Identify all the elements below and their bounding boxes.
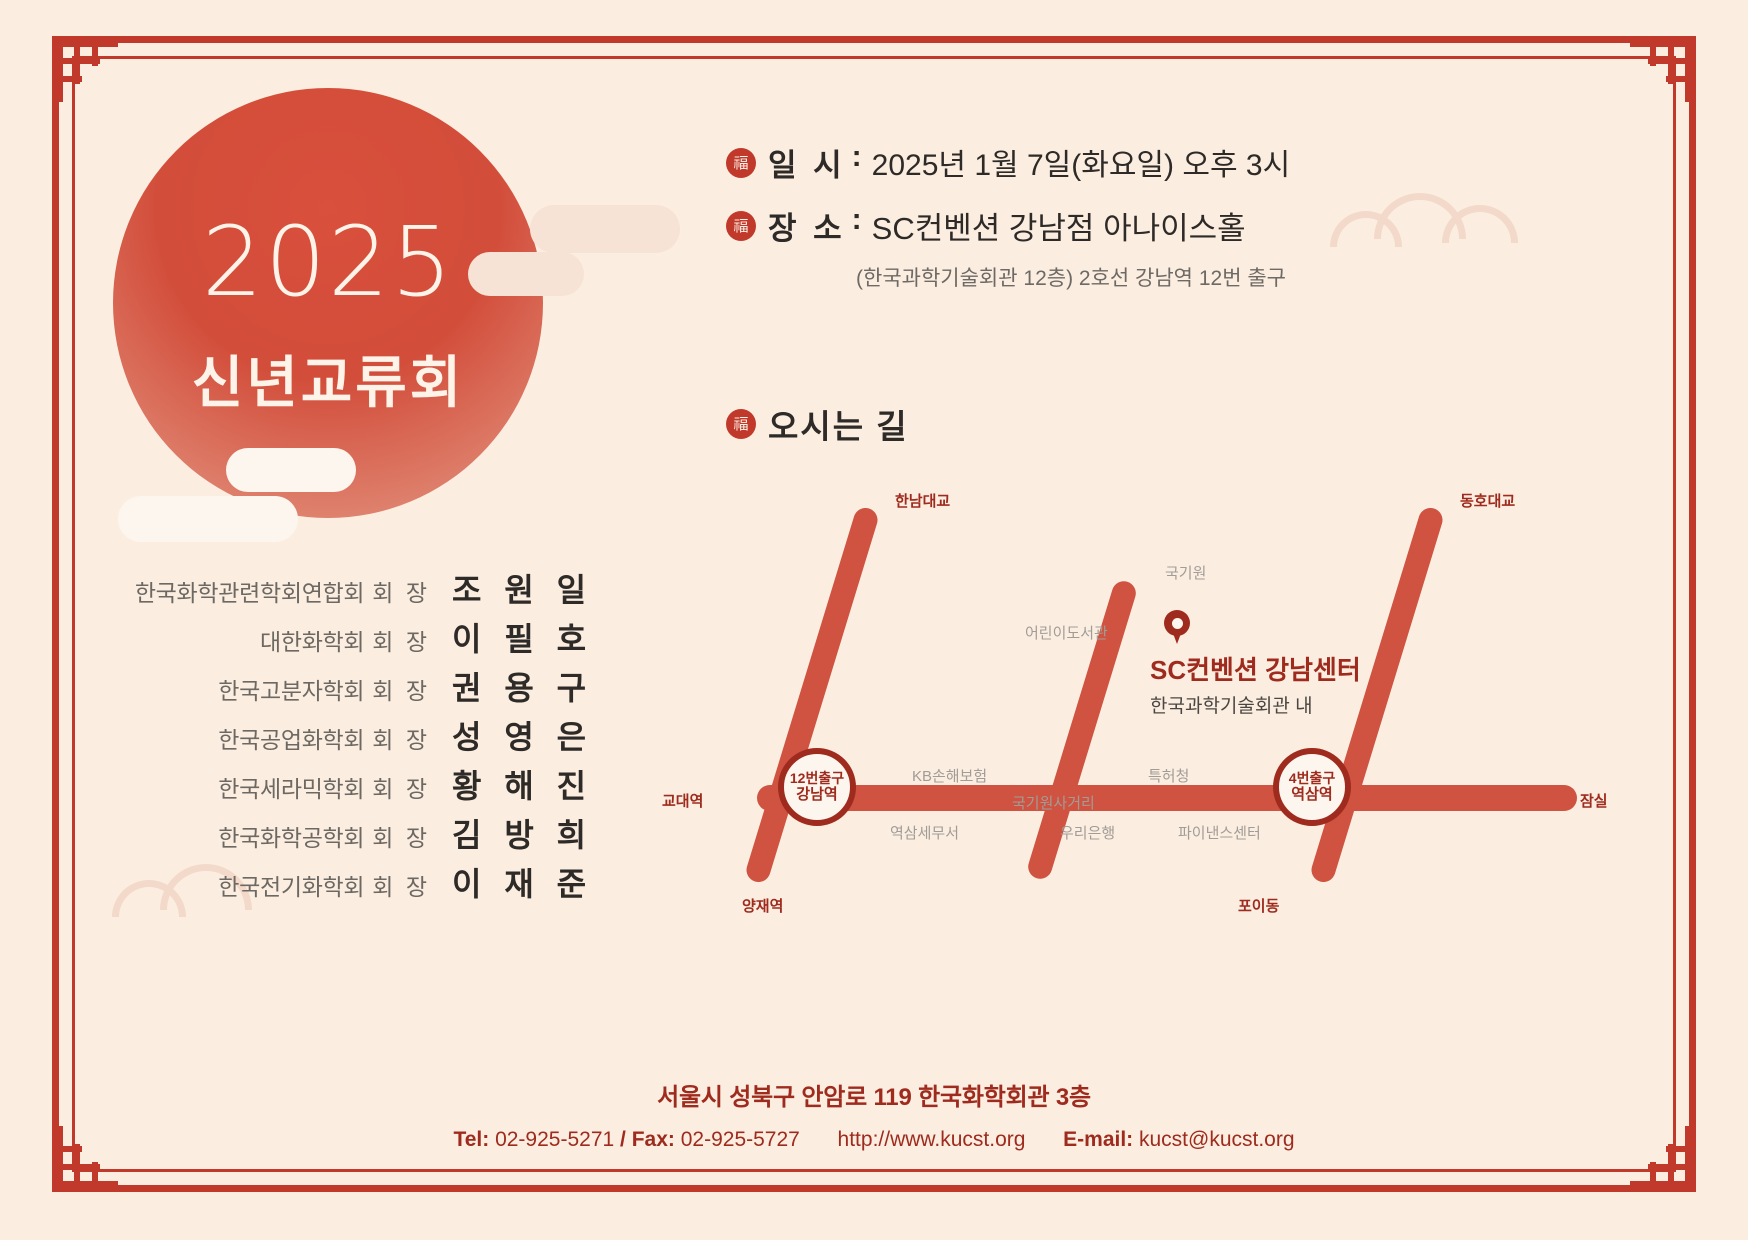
officer-row: 한국고분자학회 회 장 권 용 구 bbox=[110, 663, 580, 712]
map-label-yangjae-station: 양재역 bbox=[742, 895, 783, 916]
officer-title: 회 장 bbox=[372, 819, 430, 853]
email-value[interactable]: kucst@kucst.org bbox=[1139, 1128, 1295, 1151]
officer-org: 한국전기화학회 bbox=[218, 868, 364, 902]
officer-row: 한국화학관련학회연합회 회 장 조 원 일 bbox=[110, 565, 580, 614]
directions-label: 오시는 길 bbox=[768, 400, 909, 448]
date-colon: : bbox=[852, 140, 862, 174]
officers-list: 한국화학관련학회연합회 회 장 조 원 일 대한화학회 회 장 이 필 호 한국… bbox=[110, 565, 580, 908]
place-colon: : bbox=[852, 203, 862, 237]
event-title: 신년교류회 bbox=[113, 338, 543, 419]
map-poi-gukgiwon: 국기원 bbox=[1165, 562, 1206, 583]
bok-seal-icon: 福 bbox=[726, 211, 756, 241]
officer-name: 성 영 은 bbox=[452, 712, 580, 758]
road-main-horizontal bbox=[757, 785, 1577, 811]
map-pin-icon bbox=[1164, 610, 1190, 644]
officer-title: 회 장 bbox=[372, 770, 430, 804]
officer-row: 한국세라믹학회 회 장 황 해 진 bbox=[110, 761, 580, 810]
email-label: E-mail: bbox=[1063, 1128, 1133, 1151]
station-exit-label: 4번출구 bbox=[1289, 770, 1335, 786]
bok-seal-icon: 福 bbox=[726, 148, 756, 178]
footer-address: 서울시 성북구 안암로 119 한국화학회관 3층 bbox=[0, 1077, 1748, 1112]
venue-callout: SC컨벤션 강남센터 한국과학기술회관 내 bbox=[1150, 650, 1361, 718]
place-subtext: (한국과학기술회관 12층) 2호선 강남역 12번 출구 bbox=[856, 262, 1446, 292]
website-link[interactable]: http://www.kucst.org bbox=[838, 1128, 1026, 1151]
cloud-decoration bbox=[468, 252, 584, 296]
station-name-label: 강남역 bbox=[796, 786, 837, 803]
map-label-hannam-bridge: 한남대교 bbox=[895, 490, 950, 511]
road-diagonal-left bbox=[744, 505, 881, 885]
officer-row: 대한화학회 회 장 이 필 호 bbox=[110, 614, 580, 663]
map-poi-gukgiwon-intersection: 국기원사거리 bbox=[1012, 792, 1095, 813]
officer-org: 한국화학공학회 bbox=[218, 819, 364, 853]
officer-row: 한국전기화학회 회 장 이 재 준 bbox=[110, 859, 580, 908]
station-marker-yeoksam[interactable]: 4번출구 역삼역 bbox=[1273, 748, 1351, 826]
officer-name: 조 원 일 bbox=[452, 565, 580, 611]
date-value: 2025년 1월 7일(화요일) 오후 3시 bbox=[872, 140, 1291, 184]
location-map: 한남대교 동호대교 교대역 잠실 양재역 포이동 국기원 어린이도서관 KB손해… bbox=[640, 470, 1700, 940]
contact-slash: / bbox=[620, 1128, 626, 1151]
corner-ornament-top-left bbox=[56, 40, 118, 102]
place-value: SC컨벤션 강남점 아나이스홀 bbox=[872, 203, 1246, 248]
map-poi-kb-insurance: KB손해보험 bbox=[912, 765, 987, 786]
poster-root: 乙巳年 2025 신년교류회 福 일 시 : 2025년 1월 7일(화요일) … bbox=[0, 0, 1748, 1240]
venue-sub: 한국과학기술회관 내 bbox=[1150, 691, 1361, 718]
officer-name: 이 필 호 bbox=[452, 614, 580, 660]
map-label-poi-dong: 포이동 bbox=[1238, 895, 1279, 916]
station-marker-gangnam[interactable]: 12번출구 강남역 bbox=[778, 748, 856, 826]
map-poi-yeoksam-tax-office: 역삼세무서 bbox=[890, 822, 959, 843]
map-poi-childrens-library: 어린이도서관 bbox=[1025, 622, 1108, 643]
bok-seal-icon: 福 bbox=[726, 409, 756, 439]
officer-row: 한국공업화학회 회 장 성 영 은 bbox=[110, 712, 580, 761]
officer-title: 회 장 bbox=[372, 574, 430, 608]
station-name-label: 역삼역 bbox=[1291, 786, 1332, 803]
officer-title: 회 장 bbox=[372, 672, 430, 706]
directions-heading: 福 오시는 길 bbox=[726, 400, 909, 448]
officer-org: 대한화학회 bbox=[260, 623, 364, 657]
cloud-decoration bbox=[118, 496, 298, 542]
footer-contact: Tel: 02-925-5271 / Fax: 02-925-5727 http… bbox=[0, 1128, 1748, 1152]
map-label-gyodae-station: 교대역 bbox=[662, 790, 703, 811]
officer-org: 한국세라믹학회 bbox=[218, 770, 364, 804]
officer-title: 회 장 bbox=[372, 623, 430, 657]
event-date-row: 福 일 시 : 2025년 1월 7일(화요일) 오후 3시 bbox=[726, 140, 1446, 185]
tel-value: 02-925-5271 bbox=[495, 1128, 614, 1151]
officer-org: 한국화학관련학회연합회 bbox=[135, 574, 364, 608]
venue-name: SC컨벤션 강남센터 bbox=[1150, 650, 1361, 687]
event-place-row: 福 장 소 : SC컨벤션 강남점 아나이스홀 bbox=[726, 203, 1446, 248]
officer-name: 권 용 구 bbox=[452, 663, 580, 709]
map-label-jamsil: 잠실 bbox=[1580, 790, 1608, 811]
tel-label: Tel: bbox=[453, 1128, 489, 1151]
officer-title: 회 장 bbox=[372, 868, 430, 902]
footer: 서울시 성북구 안암로 119 한국화학회관 3층 Tel: 02-925-52… bbox=[0, 1077, 1748, 1152]
map-poi-woori-bank: 우리은행 bbox=[1060, 822, 1115, 843]
map-poi-patent-office: 특허청 bbox=[1148, 765, 1189, 786]
station-exit-label: 12번출구 bbox=[790, 770, 844, 786]
officer-org: 한국공업화학회 bbox=[218, 721, 364, 755]
map-label-dongho-bridge: 동호대교 bbox=[1460, 490, 1515, 511]
officer-row: 한국화학공학회 회 장 김 방 희 bbox=[110, 810, 580, 859]
fax-label: Fax: bbox=[632, 1128, 675, 1151]
officer-name: 이 재 준 bbox=[452, 859, 580, 905]
officer-org: 한국고분자학회 bbox=[218, 672, 364, 706]
event-info: 福 일 시 : 2025년 1월 7일(화요일) 오후 3시 福 장 소 : S… bbox=[726, 140, 1446, 292]
officer-title: 회 장 bbox=[372, 721, 430, 755]
cloud-decoration bbox=[530, 205, 680, 253]
officer-name: 김 방 희 bbox=[452, 810, 580, 856]
corner-ornament-top-right bbox=[1630, 40, 1692, 102]
map-poi-finance-center: 파이낸스센터 bbox=[1178, 822, 1261, 843]
cloud-decoration bbox=[226, 448, 356, 492]
date-label: 일 시 bbox=[768, 140, 846, 185]
officer-name: 황 해 진 bbox=[452, 761, 580, 807]
place-label: 장 소 bbox=[768, 203, 846, 248]
fax-value: 02-925-5727 bbox=[681, 1128, 800, 1151]
